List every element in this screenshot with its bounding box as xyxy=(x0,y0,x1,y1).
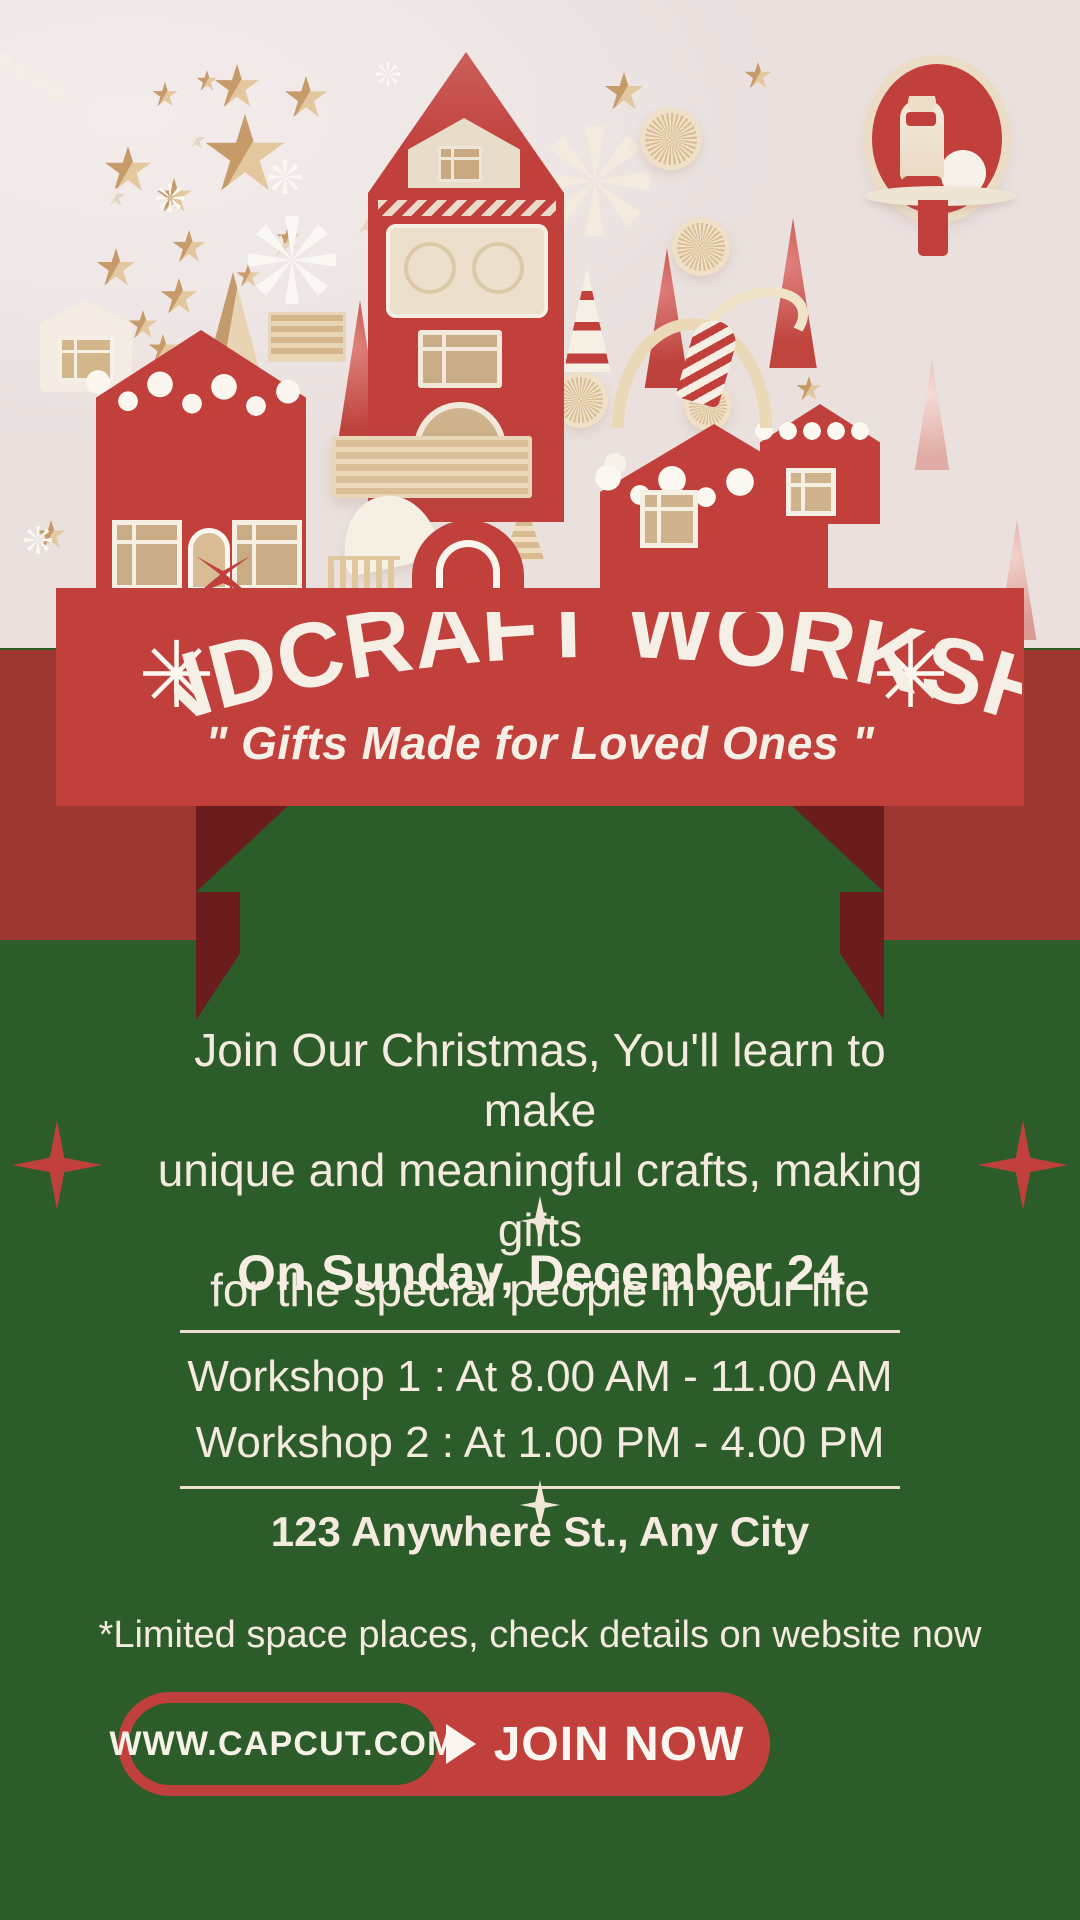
poster-root: ✳ ✳ HANDCRAFT WORKSHOP " Gifts Made for … xyxy=(0,0,1080,1920)
window-pane xyxy=(438,146,482,182)
doll-hat xyxy=(906,78,938,96)
cta-bar[interactable]: WWW.CAPCUT.COM JOIN NOW xyxy=(118,1692,770,1796)
shelf-bracket xyxy=(918,200,948,256)
wooden-star-icon xyxy=(284,76,328,120)
paper-snowflake-icon xyxy=(376,62,400,86)
snow-drip-roof xyxy=(752,406,888,456)
wooden-snowflake-disc-icon xyxy=(640,108,702,170)
wooden-star-icon xyxy=(214,64,260,110)
wooden-star-icon xyxy=(172,230,206,264)
ribbon-band: ✳ ✳ HANDCRAFT WORKSHOP " Gifts Made for … xyxy=(56,588,1024,806)
play-triangle-icon xyxy=(446,1724,476,1764)
event-date: On Sunday, December 24 xyxy=(0,1244,1080,1302)
join-now-button[interactable]: JOIN NOW xyxy=(442,1717,770,1772)
divider-top xyxy=(180,1330,900,1333)
paper-snowflake-icon xyxy=(268,160,302,194)
hero-photo xyxy=(0,0,1080,648)
wooden-star-icon xyxy=(160,278,198,316)
wooden-star-icon xyxy=(744,62,772,90)
paper-star-icon xyxy=(104,186,126,208)
paper-star-icon xyxy=(186,130,206,150)
pale-sisal-tree xyxy=(908,360,956,470)
swirl-icon xyxy=(404,242,456,294)
page-title: HANDCRAFT WORKSHOP xyxy=(174,612,1022,728)
wooden-shutter xyxy=(268,312,346,362)
wooden-snowflake-disc-icon xyxy=(672,218,730,276)
title-ribbon: ✳ ✳ HANDCRAFT WORKSHOP " Gifts Made for … xyxy=(0,588,1080,1008)
page-title-text: HANDCRAFT WORKSHOP xyxy=(174,612,1022,728)
doll-scarf xyxy=(906,112,936,126)
workshop-slot-1: Workshop 1 : At 8.00 AM - 11.00 AM xyxy=(0,1352,1080,1402)
wooden-star-icon xyxy=(96,248,136,288)
website-url-button[interactable]: WWW.CAPCUT.COM xyxy=(124,1698,442,1790)
wooden-star-icon xyxy=(604,72,644,112)
paper-snowflake-icon xyxy=(24,526,52,554)
wooden-star-icon xyxy=(796,376,822,402)
paper-snowflake-icon xyxy=(248,216,336,304)
svg-text:HANDCRAFT WORKSHOP: HANDCRAFT WORKSHOP xyxy=(174,612,1022,728)
workshop-slot-2: Workshop 2 : At 1.00 PM - 4.00 PM xyxy=(0,1418,1080,1468)
carved-swirl-panel xyxy=(386,224,548,318)
join-now-label: JOIN NOW xyxy=(494,1717,745,1772)
swirl-icon xyxy=(472,242,524,294)
window-pane xyxy=(232,520,302,590)
striped-cone-tree xyxy=(556,268,618,372)
wooden-star-icon xyxy=(196,70,218,92)
wooden-shutter xyxy=(332,436,532,498)
paper-snowflake-icon xyxy=(156,184,184,212)
window-pane xyxy=(786,468,836,516)
zigzag-trim xyxy=(378,200,556,216)
wooden-star-icon xyxy=(152,82,178,108)
window-pane xyxy=(112,520,182,590)
window-pane xyxy=(640,490,698,548)
intro-line-1: Join Our Christmas, You'll learn to make xyxy=(140,1020,940,1140)
details-section: Join Our Christmas, You'll learn to make… xyxy=(0,1000,1080,1920)
window-pane xyxy=(418,330,502,388)
scallop-roof-trim xyxy=(0,22,172,177)
limited-space-note: *Limited space places, check details on … xyxy=(0,1614,1080,1657)
page-subtitle: " Gifts Made for Loved Ones " xyxy=(56,716,1024,770)
